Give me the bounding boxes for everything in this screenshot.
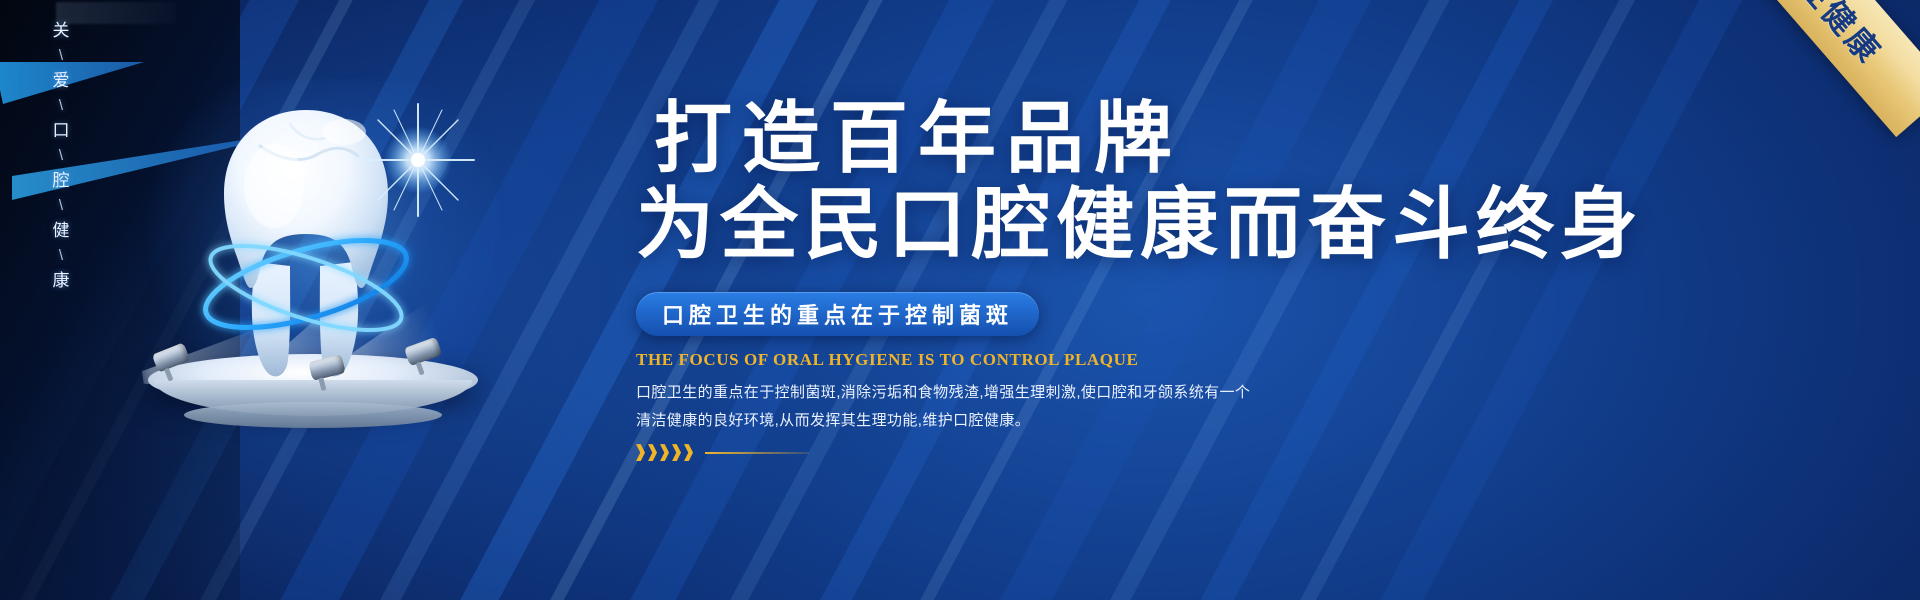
chevron-icon bbox=[648, 444, 657, 461]
vertical-slogan-char: 关 bbox=[53, 22, 70, 39]
body-paragraph: 口腔卫生的重点在于控制菌斑,消除污垢和食物残渣,增强生理刺激,使口腔和牙颌系统有… bbox=[636, 379, 1816, 434]
vertical-slogan-separator: \ bbox=[59, 248, 63, 263]
vertical-slogan-char: 爱 bbox=[53, 72, 70, 89]
vertical-slogan-separator: \ bbox=[59, 48, 63, 63]
accent-rule bbox=[705, 452, 809, 454]
subtitle-badge: 口腔卫生的重点在于控制菌斑 bbox=[636, 292, 1039, 336]
chevron-arrows-decoration bbox=[636, 444, 1816, 461]
headline-line-1: 打造百年品牌 bbox=[654, 96, 1816, 180]
tooth-illustration bbox=[194, 102, 418, 382]
glow-orbit-rings bbox=[197, 223, 416, 348]
vertical-slogan: 关\爱\口\腔\健\康 bbox=[44, 22, 78, 289]
vertical-slogan-char: 口 bbox=[53, 122, 70, 139]
vertical-slogan-char: 康 bbox=[53, 272, 70, 289]
tooth-artwork bbox=[120, 60, 520, 460]
copy-block: 打造百年品牌 为全民口腔健康而奋斗终身 口腔卫生的重点在于控制菌斑 THE FO… bbox=[636, 96, 1816, 461]
vertical-slogan-char: 健 bbox=[53, 222, 70, 239]
body-paragraph-line-1: 口腔卫生的重点在于控制菌斑,消除污垢和食物残渣,增强生理刺激,使口腔和牙颌系统有… bbox=[636, 379, 1816, 406]
vertical-slogan-char: 腔 bbox=[53, 172, 70, 189]
subtitle-badge-text: 口腔卫生的重点在于控制菌斑 bbox=[662, 298, 1013, 330]
english-subtitle: THE FOCUS OF ORAL HYGIENE IS TO CONTROL … bbox=[636, 350, 1816, 370]
chevron-icon bbox=[636, 444, 645, 461]
vertical-slogan-separator: \ bbox=[59, 148, 63, 163]
vertical-slogan-separator: \ bbox=[59, 98, 63, 113]
faint-logo-mark bbox=[56, 2, 176, 24]
chevron-icon bbox=[660, 444, 669, 461]
body-paragraph-line-2: 清洁健康的良好环境,从而发挥其生理功能,维护口腔健康。 bbox=[636, 407, 1816, 434]
headline-line-2: 为全民口腔健康而奋斗终身 bbox=[636, 182, 1816, 266]
chevron-icon bbox=[684, 444, 693, 461]
podium-base bbox=[184, 402, 442, 428]
vertical-slogan-separator: \ bbox=[59, 198, 63, 213]
chevron-icon bbox=[672, 444, 681, 461]
banner-canvas: 关\爱\口\腔\健\康 关爱口腔健康 bbox=[0, 0, 1920, 600]
